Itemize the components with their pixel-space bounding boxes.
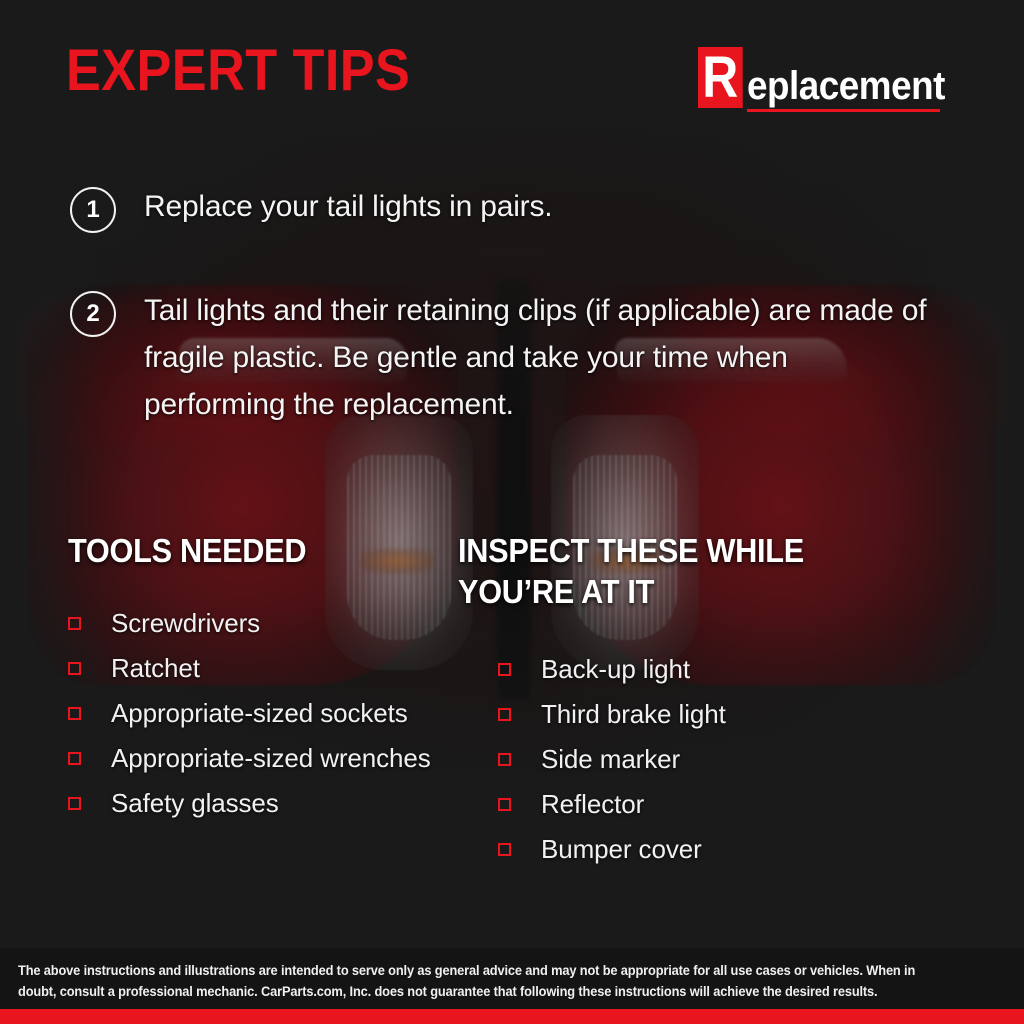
checkbox-icon xyxy=(68,662,81,675)
tools-needed-list: Screwdrivers Ratchet Appropriate-sized s… xyxy=(68,600,431,825)
inspect-list: Back-up light Third brake light Side mar… xyxy=(498,646,726,871)
tip-number-badge-1: 1 xyxy=(70,187,116,233)
list-item: Bumper cover xyxy=(498,826,726,871)
checkbox-icon xyxy=(498,843,511,856)
replacement-logo: R eplacement xyxy=(698,44,962,108)
checkbox-icon xyxy=(498,663,511,676)
list-item: Safety glasses xyxy=(68,780,431,825)
list-item-label: Ratchet xyxy=(111,655,200,681)
tip-number-badge-2: 2 xyxy=(70,291,116,337)
tip-item-1: 1 Replace your tail lights in pairs. xyxy=(70,183,884,233)
list-item-label: Third brake light xyxy=(541,701,726,727)
list-item: Reflector xyxy=(498,781,726,826)
checkbox-icon xyxy=(498,753,511,766)
list-item-label: Side marker xyxy=(541,746,680,772)
list-item: Screwdrivers xyxy=(68,600,431,645)
list-item: Side marker xyxy=(498,736,726,781)
checkbox-icon xyxy=(68,617,81,630)
checkbox-icon xyxy=(498,798,511,811)
checkbox-icon xyxy=(68,752,81,765)
list-item-label: Appropriate-sized wrenches xyxy=(111,745,431,771)
bottom-accent-bar xyxy=(0,1009,1024,1024)
tools-needed-heading: TOOLS NEEDED xyxy=(68,530,306,571)
logo-underline xyxy=(747,109,940,112)
tip-text-1: Replace your tail lights in pairs. xyxy=(144,183,884,230)
list-item-label: Safety glasses xyxy=(111,790,279,816)
checkbox-icon xyxy=(68,707,81,720)
list-item-label: Back-up light xyxy=(541,656,690,682)
list-item: Third brake light xyxy=(498,691,726,736)
list-item: Appropriate-sized sockets xyxy=(68,690,431,735)
tip-text-2: Tail lights and their retaining clips (i… xyxy=(144,287,934,428)
list-item: Ratchet xyxy=(68,645,431,690)
checkbox-icon xyxy=(498,708,511,721)
list-item-label: Bumper cover xyxy=(541,836,702,862)
checkbox-icon xyxy=(68,797,81,810)
logo-word-text: eplacement xyxy=(747,66,945,106)
expert-tips-graphic: EXPERT TIPS R eplacement 1 Replace your … xyxy=(0,0,1024,1024)
page-title: EXPERT TIPS xyxy=(66,42,410,100)
list-item: Back-up light xyxy=(498,646,726,691)
inspect-heading: INSPECT THESE WHILE YOU’RE AT IT xyxy=(458,530,858,612)
logo-wordmark: eplacement xyxy=(747,66,962,108)
list-item-label: Appropriate-sized sockets xyxy=(111,700,408,726)
list-item-label: Screwdrivers xyxy=(111,610,260,636)
list-item-label: Reflector xyxy=(541,791,644,817)
disclaimer-text: The above instructions and illustrations… xyxy=(18,960,957,1002)
logo-badge-letter: R xyxy=(698,47,743,108)
list-item: Appropriate-sized wrenches xyxy=(68,735,431,780)
tip-item-2: 2 Tail lights and their retaining clips … xyxy=(70,287,934,428)
